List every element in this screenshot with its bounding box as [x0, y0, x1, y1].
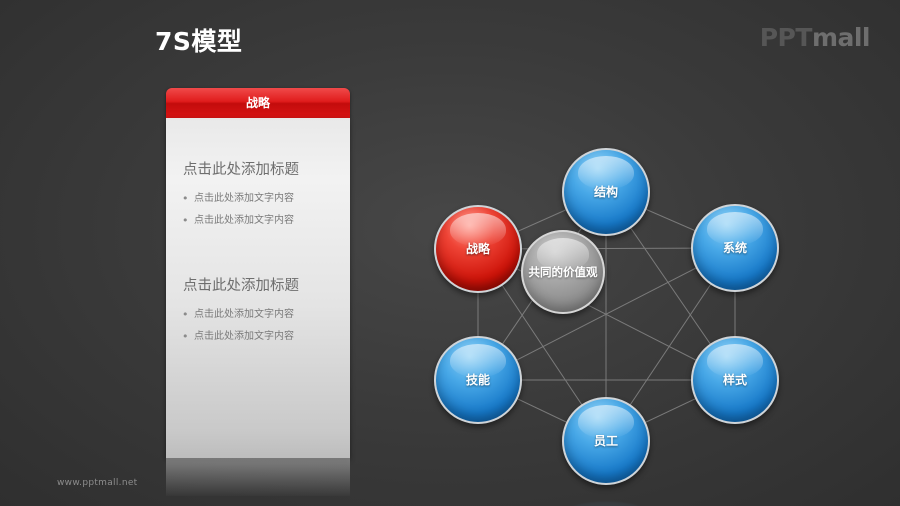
- node-staff[interactable]: 员工: [562, 397, 650, 485]
- node-systems[interactable]: 系统: [691, 204, 779, 292]
- panel-bullet-2-2[interactable]: 点击此处添加文字内容: [166, 326, 350, 348]
- node-shared-values[interactable]: 共同的价值观: [521, 230, 605, 314]
- slide-canvas: 7S模型 PPTmall www.pptmall.net 战略 点击此处添加标题…: [0, 0, 900, 506]
- node-staff-label: 员工: [594, 434, 618, 449]
- logo-text-primary: PPT: [760, 23, 812, 52]
- page-title: 7S模型: [155, 22, 242, 58]
- node-staff-reflection: [562, 502, 650, 506]
- brand-logo: PPTmall: [760, 23, 870, 52]
- node-skills-label: 技能: [466, 373, 490, 388]
- node-shared-values-label: 共同的价值观: [529, 265, 598, 280]
- node-systems-label: 系统: [723, 241, 747, 256]
- node-strategy[interactable]: 战略: [434, 205, 522, 293]
- seven-s-diagram: 战略 结构 系统 样式 员工 技能 共同的价值观: [375, 92, 765, 492]
- footer-url: www.pptmall.net: [57, 478, 138, 488]
- panel-reflection: [166, 458, 350, 496]
- node-strategy-label: 战略: [466, 242, 490, 257]
- panel-block-title-2[interactable]: 点击此处添加标题: [166, 274, 350, 295]
- text-panel: 战略 点击此处添加标题 点击此处添加文字内容 点击此处添加文字内容 点击此处添加…: [166, 88, 350, 488]
- node-style-label: 样式: [723, 373, 747, 388]
- panel-bullet-1-2[interactable]: 点击此处添加文字内容: [166, 210, 350, 232]
- panel-header[interactable]: 战略: [166, 88, 350, 118]
- node-skills[interactable]: 技能: [434, 336, 522, 424]
- node-structure[interactable]: 结构: [562, 148, 650, 236]
- logo-text-secondary: mall: [812, 23, 870, 52]
- panel-body: 点击此处添加标题 点击此处添加文字内容 点击此处添加文字内容 点击此处添加标题 …: [166, 118, 350, 458]
- panel-bullet-2-1[interactable]: 点击此处添加文字内容: [166, 304, 350, 326]
- node-structure-label: 结构: [594, 185, 618, 200]
- node-style[interactable]: 样式: [691, 336, 779, 424]
- panel-block-title-1[interactable]: 点击此处添加标题: [166, 158, 350, 179]
- panel-bullet-1-1[interactable]: 点击此处添加文字内容: [166, 188, 350, 210]
- panel-header-label: 战略: [246, 96, 270, 110]
